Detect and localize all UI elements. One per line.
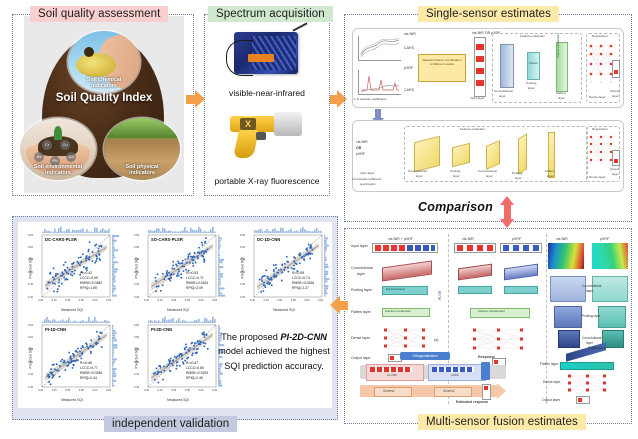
x-tick-label: 0.40	[144, 299, 149, 302]
fusion-a-pool-tag: Extracted feature	[386, 288, 405, 291]
y-tick-label: 0.50	[134, 361, 139, 364]
fusion-c-output-vector	[576, 396, 590, 404]
scatter-plot-title: SO-CARS-PLSR	[151, 237, 183, 242]
scatter-plot: SO-CARS-PLSRR²=0.53LCCC=0.71RMSE=0.0344R…	[128, 224, 228, 312]
wavelet-feature-combination-box: Wavelet feature combination of different…	[418, 54, 466, 82]
vis-nir-input-label: vis-NIR	[404, 32, 416, 36]
x-tick-label: 0.65	[212, 389, 217, 392]
claim-model: PI-2D-CNN	[280, 332, 326, 342]
scatter-plot-stats: R²=0.65LCCC=0.77RMSE=0.0296RPIQ=2.44	[80, 361, 102, 381]
fusion-c-flatten-block	[560, 362, 614, 370]
x-axis-label: Measured SQI	[22, 308, 122, 312]
single-sensor-header: Single-sensor estimates	[418, 6, 559, 22]
fusion-c-pxrf-spectrogram	[592, 243, 628, 269]
vis-nir-caption: visible-near-infrared	[204, 88, 330, 98]
y-tick-label: 0.50	[134, 271, 139, 274]
fusion-a-flatten-label: Flatten layer	[351, 310, 371, 314]
sample-graphic	[76, 53, 116, 77]
estimated-response-vector	[482, 384, 491, 400]
x-tick-label: 0.60	[92, 389, 97, 392]
grass-graphic	[104, 118, 180, 138]
key-finding-text: The proposed PI-2D-CNN model achieved th…	[218, 330, 330, 373]
y-tick-label: 0.45	[28, 283, 33, 286]
x-axis-label: Measured SQI	[128, 308, 228, 312]
regression-label-2d: Regression	[592, 128, 608, 132]
fusion-a-input-vector	[372, 243, 438, 253]
scatter-plot: DC-1D-CNNR²=0.59LCCC=0.74RMSE=0.0326RPIQ…	[234, 224, 334, 312]
x-tick-label: 0.50	[277, 299, 282, 302]
x-tick-label: 0.45	[52, 299, 57, 302]
y-tick-label: 0.55	[134, 258, 139, 261]
element-chip: Cd	[66, 152, 76, 162]
input-layer-label-1d: Input layer	[470, 97, 484, 101]
y-tick-label: 0.40	[28, 296, 33, 299]
flatten-layer-label-1d-line2: layer	[558, 97, 565, 101]
flatten-features-tag: Features concatenated	[558, 34, 561, 58]
wavelet-box-text: Wavelet feature combination of different…	[421, 58, 463, 66]
fusion-a-conv-label: Convolutional	[351, 266, 373, 270]
response-bar	[481, 362, 490, 380]
pxrf-wavelet-spectra	[358, 70, 401, 95]
fusion-c-conv2-visnir	[558, 330, 580, 348]
fusion-a-plsr-side-label: PLSR	[438, 291, 442, 300]
fusion-b-pool-pxrf	[504, 286, 538, 294]
y-tick-label: 0.45	[134, 373, 139, 376]
x-tick-label: 0.55	[185, 299, 190, 302]
y-tick-label: 0.40	[240, 296, 245, 299]
conv-label-2d-b-line2: layer	[486, 175, 493, 179]
two-d-wavelet-caption-line2: spectrogram	[360, 183, 376, 186]
claim-suffix: model achieved the highest SQI predictio…	[218, 346, 330, 370]
x-tick-label: 0.55	[79, 389, 84, 392]
y-tick-label: 0.60	[28, 336, 33, 339]
soil-physical-indicators-label: Soil physicalindicators	[104, 164, 180, 176]
two-d-wavelet-caption: 2-D wavelet coefficients	[352, 178, 382, 181]
sprout-icon	[54, 126, 62, 140]
scatter-plot-title: DC-CARS-PLSR	[45, 237, 77, 242]
dense-layer-label-2d: Dense layer	[589, 176, 606, 180]
comparison-label: Comparison	[418, 200, 493, 214]
x-tick-label: 0.60	[198, 299, 203, 302]
x-tick-label: 0.40	[38, 299, 43, 302]
element-chip: Cu	[60, 140, 70, 150]
conv-label-2d-a-line2: layer	[416, 175, 423, 179]
soil-quality-header: Soil quality assessment	[30, 6, 168, 22]
fusion-c-dense-label: Dense layer	[543, 380, 561, 384]
fusion-a-output-label: Output layer	[351, 356, 371, 360]
output-label-2d-line2: layer	[612, 173, 619, 177]
graphical-abstract: Soil quality assessment Soil Quality Ind…	[0, 0, 638, 439]
soil-chemical-indicators-label: Soil chemicalindicators	[68, 77, 140, 89]
y-tick-label: 0.65	[28, 234, 33, 237]
y-tick-label: 0.60	[28, 246, 33, 249]
x-tick-label: 0.65	[106, 299, 111, 302]
input-layer-vector	[474, 37, 486, 97]
fusion-b-visnir-vector	[454, 243, 496, 253]
input-2d-or: OR	[356, 146, 361, 150]
x-tick-label: 0.55	[291, 299, 296, 302]
x-tick-label: 0.40	[38, 389, 43, 392]
fusion-b-pool-visnir	[458, 286, 492, 294]
cars-label-top: CARS	[404, 46, 414, 50]
one-d-wavelet-caption: 1-D wavelet coefficients	[354, 98, 387, 102]
soil-drop-graphic	[84, 47, 94, 57]
element-chip: As	[34, 152, 44, 162]
input-2d-pxrf: pXRF	[356, 152, 365, 156]
fusion-a-dense-label: Dense layer	[351, 336, 370, 340]
visnir-block-label: vis-NIR	[387, 374, 397, 378]
soil-environmental-indicators-label: Soil environmentalindicators	[20, 164, 96, 176]
output-layer-vector-2d	[612, 150, 620, 166]
fusion-b-header-visnir: vis-NIR	[462, 237, 474, 241]
y-tick-label: 0.50	[28, 361, 33, 364]
y-tick-label: 0.55	[28, 258, 33, 261]
scatter-plot: DC-CARS-PLSRR²=0.42LCCC=0.59RMSE=0.0382R…	[22, 224, 122, 312]
scatter-plot-title: PI-1D-CNN	[45, 327, 66, 332]
x-axis-label: Measured SQI	[22, 398, 122, 402]
input-layer-label-2d: Input layer	[360, 172, 374, 176]
y-tick-label: 0.50	[240, 271, 245, 274]
fusion-c-visnir-spectrogram	[548, 243, 584, 269]
x-tick-label: 0.55	[185, 389, 190, 392]
fusion-c-header-pxrf: pXRF	[600, 237, 609, 241]
scatter-plot-stats: R²=0.67LCCC=0.80RMSE=0.0293RPIQ=2.46	[186, 361, 208, 381]
x-tick-label: 0.60	[198, 389, 203, 392]
fusion-a-tag: (a)	[434, 338, 438, 342]
pxrf-block: pXRF	[428, 364, 486, 381]
fusion-c-pool-pxrf	[598, 306, 626, 328]
fusion-c-conv-label: Convolutional	[582, 284, 601, 288]
x-tick-label: 0.60	[304, 299, 309, 302]
scatter-plot-stats: R²=0.53LCCC=0.71RMSE=0.0344RPIQ=2.09	[186, 271, 208, 291]
soil-chemical-indicators-photo: Soil chemicalindicators	[68, 31, 140, 93]
x-tick-label: 0.40	[250, 299, 255, 302]
x-tick-label: 0.45	[158, 389, 163, 392]
x-tick-label: 0.50	[171, 299, 176, 302]
validation-header: independent validation	[104, 416, 237, 432]
fusion-c-conv2-label: Convolutional	[582, 336, 601, 340]
y-tick-label: 0.45	[28, 373, 33, 376]
scores2-chip: Scores2	[434, 387, 472, 397]
y-tick-label: 0.65	[134, 234, 139, 237]
scores2-label: Scores2	[443, 390, 455, 394]
y-tick-label: 0.55	[240, 258, 245, 261]
regression-label-1d: Regression	[592, 35, 608, 39]
x-tick-label: 0.65	[212, 299, 217, 302]
fusion-a-pooling-label: Pooling layer	[351, 288, 372, 292]
y-tick-label: 0.45	[240, 283, 245, 286]
xray-badge: X	[240, 118, 256, 130]
fusion-c-output-label: Output layer	[542, 398, 560, 402]
x-tick-label: 0.65	[318, 299, 323, 302]
fusion-c-conv-label-line2: layer	[586, 289, 593, 293]
orthogonalization-badge: Orthogonalization	[400, 352, 450, 360]
pool-label-2d-a-line2: layer	[453, 175, 460, 179]
fusion-c-pool-visnir	[554, 306, 582, 328]
pooling-layer-label-1d-line2: layer	[528, 87, 535, 91]
y-tick-label: 0.60	[240, 246, 245, 249]
scatter-plot-stats: R²=0.59LCCC=0.74RMSE=0.0326RPIQ=2.27	[292, 271, 314, 291]
y-tick-label: 0.55	[134, 348, 139, 351]
y-tick-label: 0.65	[134, 324, 139, 327]
visnir-block: vis-NIR	[366, 364, 424, 381]
scatter-plot-stats: R²=0.42LCCC=0.59RMSE=0.0382RPIQ=1.89	[80, 271, 102, 291]
pxrf-analyzer-icon: X	[228, 108, 306, 162]
soil-quality-index-label: Soil Quality Index	[28, 92, 180, 104]
fusion-c-conv-pxrf	[592, 276, 628, 302]
feature-extraction-label-2d: Feature extraction	[460, 128, 485, 132]
vis-nir-wavelet-spectra	[358, 36, 401, 61]
fusion-b-header-pxrf: pXRF	[512, 237, 521, 241]
y-tick-label: 0.40	[28, 386, 33, 389]
soil-physical-indicators-photo: Soil physicalindicators	[104, 118, 180, 180]
output-layer-label-1d-line2: layer	[612, 95, 619, 99]
comparison-double-arrow	[500, 196, 515, 228]
scatter-plot: PI-2D-CNNR²=0.67LCCC=0.80RMSE=0.0293RPIQ…	[128, 314, 228, 402]
y-tick-label: 0.60	[134, 336, 139, 339]
x-tick-label: 0.65	[106, 389, 111, 392]
fusion-c-conv2-label-line2: layer	[586, 341, 593, 345]
pooling-layer-block-1d	[527, 52, 540, 80]
y-tick-label: 0.60	[134, 246, 139, 249]
multi-sensor-header: Multi-sensor fusion estimates	[418, 414, 586, 430]
flatten-label-2d-line2: layer	[547, 175, 554, 179]
x-tick-label: 0.50	[65, 299, 70, 302]
y-tick-label: 0.65	[28, 324, 33, 327]
vis-nir-spectrometer-icon	[228, 30, 300, 78]
response-label: Response	[478, 355, 495, 359]
element-chip: Cr	[42, 140, 52, 150]
fusion-a-input-layer-label: Input layer	[351, 244, 368, 248]
cars-label-bottom: CARS	[404, 88, 414, 92]
fusion-c-header-visnir: vis-NIR	[556, 237, 568, 241]
pxrf-caption: portable X-ray fluorescence	[202, 176, 332, 186]
fusion-c-dense-nodes	[566, 372, 610, 396]
fusion-b-concat-tag: Features concatenated	[478, 310, 505, 313]
x-tick-label: 0.45	[52, 389, 57, 392]
x-tick-label: 0.55	[79, 299, 84, 302]
soil-environmental-indicators-photo: As Pb Cd Cr Cu Soil environmentalindicat…	[20, 118, 96, 180]
fusion-b-pxrf-vector	[500, 243, 542, 253]
orthogonalization-label: Orthogonalization	[400, 352, 450, 360]
claim-prefix: The proposed	[221, 332, 280, 342]
x-axis-label: Measured SQI	[234, 308, 334, 312]
y-tick-label: 0.45	[134, 283, 139, 286]
estimated-response-label: Estimated response	[456, 400, 488, 404]
scatter-plot-title: PI-2D-CNN	[151, 327, 172, 332]
x-axis-label: Measured SQI	[128, 398, 228, 402]
pxrf-block-label: pXRF	[451, 374, 459, 378]
fusion-a-vector-header: vis-NIR + pXRF	[388, 237, 413, 241]
x-tick-label: 0.45	[264, 299, 269, 302]
feature-extraction-label-1d: Feature extraction	[520, 35, 545, 39]
input-2d-vis-nir: vis-NIR	[356, 140, 368, 144]
convolutional-layer-block-1d	[500, 44, 514, 88]
dense-layer-label-1d: Dense layer	[589, 96, 606, 100]
x-tick-label: 0.50	[171, 389, 176, 392]
x-tick-label: 0.45	[158, 299, 163, 302]
x-tick-label: 0.40	[144, 389, 149, 392]
pxrf-input-label: pXRF	[404, 66, 413, 70]
scatter-plot-title: DC-1D-CNN	[257, 237, 280, 242]
fusion-a-flat-tag: Features concatenated	[385, 310, 411, 313]
spectrum-acquisition-header: Spectrum acquisition	[208, 6, 333, 22]
fusion-c-conv-visnir	[550, 276, 586, 302]
output-layer-vector-1d	[612, 60, 620, 78]
x-tick-label: 0.60	[92, 299, 97, 302]
scatter-plot: PI-1D-CNNR²=0.65LCCC=0.77RMSE=0.0296RPIQ…	[22, 314, 122, 402]
x-tick-label: 0.50	[65, 389, 70, 392]
fusion-c-pool-label: Pooling layer	[582, 314, 600, 318]
scores1-label: Scores1	[383, 390, 395, 394]
scores1-chip: Scores1	[374, 387, 412, 397]
pool-label-2d-b-line2: layer	[515, 177, 522, 181]
fusion-c-flatten-label: Flatten layer	[540, 362, 558, 366]
fusion-c-pool2-label: Pooling layer	[588, 346, 606, 350]
fusion-a-conv-label-line2: layer	[357, 272, 365, 276]
y-tick-label: 0.40	[134, 386, 139, 389]
pooling-feature-tag: Feature	[529, 62, 538, 65]
y-tick-label: 0.55	[28, 348, 33, 351]
fusion-a-dense-nodes	[382, 326, 430, 354]
convolutional-layer-label-1d-line2: layer	[499, 95, 506, 99]
pooling-layer-block-2d-b	[518, 133, 527, 175]
y-tick-label: 0.65	[240, 234, 245, 237]
scores-arrow-head	[497, 383, 506, 399]
y-tick-label: 0.40	[134, 296, 139, 299]
y-tick-label: 0.50	[28, 271, 33, 274]
